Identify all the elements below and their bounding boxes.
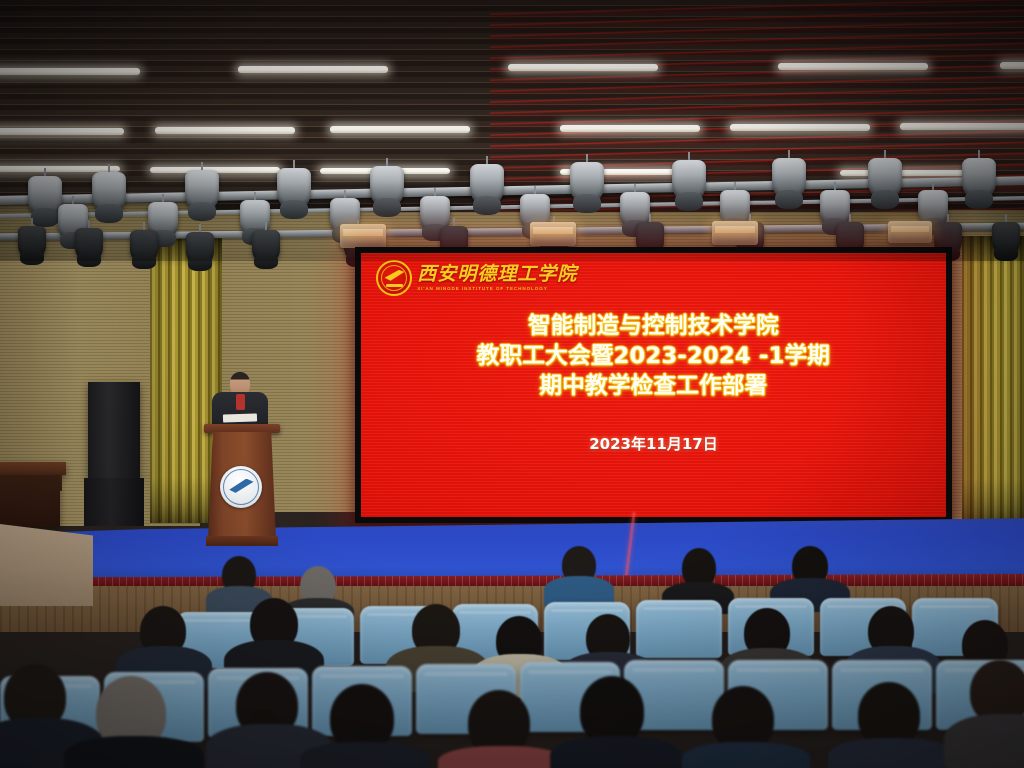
curtain-right	[962, 236, 1024, 524]
auditorium-seat	[636, 600, 722, 658]
speaker-notes	[223, 413, 257, 422]
pa-speaker-stack	[88, 382, 140, 480]
screen-title-block: 智能制造与控制技术学院 教职工大会暨2023-2024 -1学期 期中教学检查工…	[361, 311, 946, 401]
screen-date: 2023年11月17日	[361, 433, 946, 454]
auditorium-photo: 西安明德理工学院 XI'AN MINGDE INSTITUTE OF TECHN…	[0, 0, 1024, 768]
led-display-screen: 西安明德理工学院 XI'AN MINGDE INSTITUTE OF TECHN…	[355, 247, 952, 523]
podium-university-seal-icon	[220, 466, 262, 508]
podium-top	[204, 424, 280, 433]
side-table-front	[0, 475, 60, 527]
institution-name-cn: 西安明德理工学院	[417, 265, 577, 284]
screen-title-line-1: 智能制造与控制技术学院	[361, 311, 946, 341]
screen-title-line-3: 期中教学检查工作部署	[361, 371, 946, 401]
pa-subwoofer	[84, 478, 144, 526]
university-emblem-icon	[376, 260, 412, 296]
ceiling-vignette	[0, 0, 1024, 261]
speaker-lanyard	[236, 394, 245, 410]
institution-name-en: XI'AN MINGDE INSTITUTE OF TECHNOLOGY	[417, 286, 577, 291]
side-table	[0, 462, 66, 475]
podium-base	[206, 536, 278, 546]
screen-title-line-2: 教职工大会暨2023-2024 -1学期	[361, 341, 946, 371]
university-logo: 西安明德理工学院 XI'AN MINGDE INSTITUTE OF TECHN…	[376, 260, 577, 296]
